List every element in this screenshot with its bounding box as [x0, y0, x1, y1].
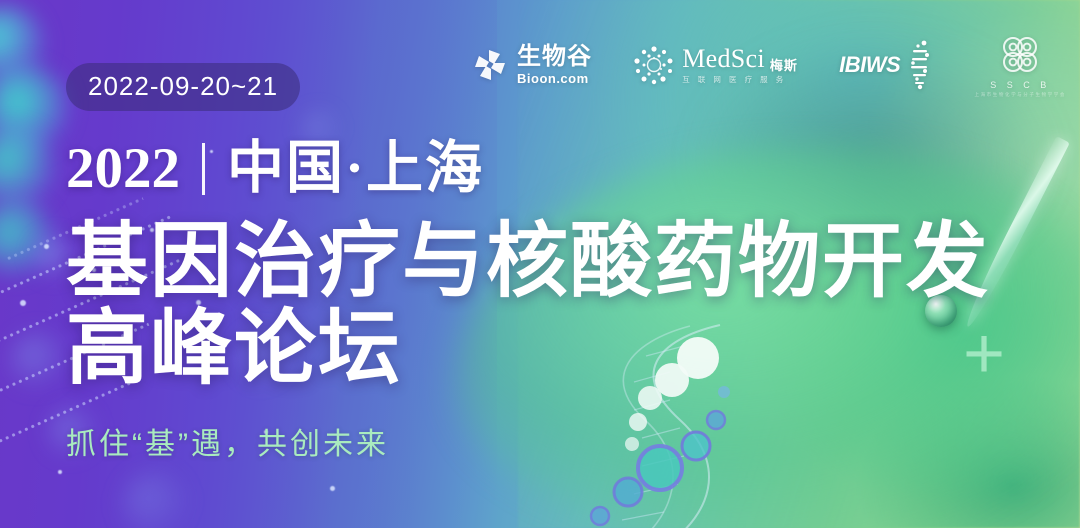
conference-banner: + — [0, 0, 1080, 528]
logo-ibiws-text: IBIWS — [839, 52, 900, 78]
date-badge: 2022-09-20~21 — [66, 63, 300, 111]
sponsor-logo-row: 生物谷 Bioon.com — [470, 34, 1066, 96]
event-title: 基因治疗与核酸药物开发 高峰论坛 — [66, 219, 996, 393]
year-location-line: 2022 中国·上海 — [66, 140, 996, 197]
dot-network-icon — [633, 44, 675, 86]
logo-medsci-cn: 梅斯 — [770, 59, 798, 72]
particle-dot — [44, 244, 49, 249]
cloverleaf-knot-icon — [996, 33, 1044, 77]
logo-medsci[interactable]: MedSci 梅斯 互 联 网 医 疗 服 务 — [633, 44, 798, 86]
event-title-line2: 高峰论坛 — [66, 306, 996, 393]
logo-bioon[interactable]: 生物谷 Bioon.com — [470, 45, 592, 85]
particle-dot — [58, 470, 62, 474]
year-text: 2022 — [66, 140, 180, 197]
event-tagline: 抓住“基”遇，共创未来 — [66, 419, 996, 463]
logo-bioon-cn: 生物谷 — [517, 45, 592, 69]
particle-dot — [330, 486, 335, 491]
separator-bar — [202, 143, 205, 195]
headline-block: 2022 中国·上海 基因治疗与核酸药物开发 高峰论坛 抓住“基”遇，共创未来 — [66, 140, 996, 463]
logo-sscb-text: S S C B — [990, 80, 1050, 90]
logo-bioon-en: Bioon.com — [517, 72, 592, 85]
logo-medsci-main: MedSci — [682, 46, 765, 72]
logo-sscb-sub: 上海市生物化学与分子生物学学会 — [974, 92, 1066, 98]
dna-ladder-icon — [907, 40, 933, 90]
event-title-line1: 基因治疗与核酸药物开发 — [66, 216, 990, 307]
logo-medsci-sub: 互 联 网 医 疗 服 务 — [682, 76, 798, 84]
particle-dot — [20, 300, 26, 306]
logo-sscb[interactable]: S S C B 上海市生物化学与分子生物学学会 — [974, 33, 1066, 98]
location-text: 中国·上海 — [227, 140, 484, 197]
logo-ibiws[interactable]: IBIWS — [839, 40, 933, 90]
pinwheel-icon — [470, 45, 510, 85]
